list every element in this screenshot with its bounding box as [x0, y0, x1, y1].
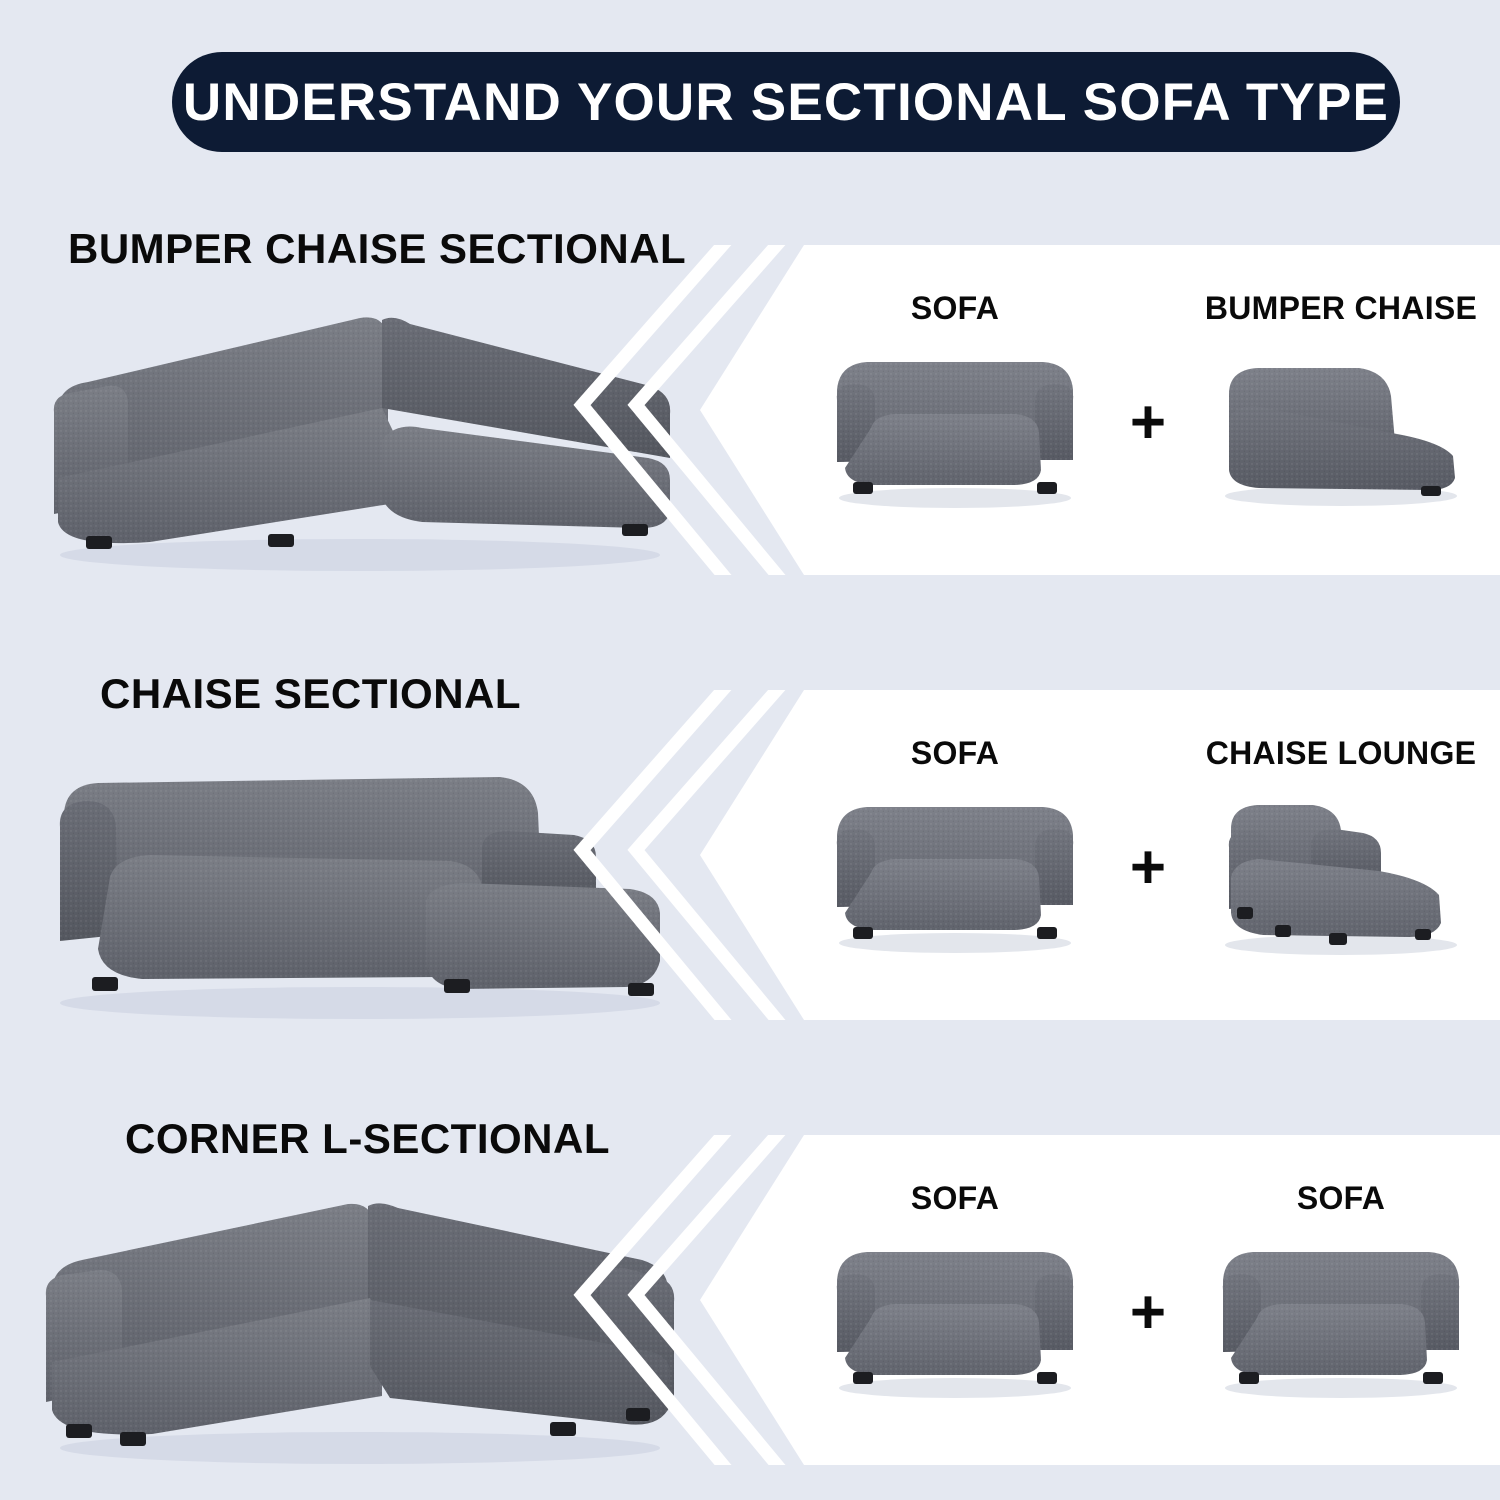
part-label: SOFA — [1201, 1180, 1481, 1217]
part-item: SOFA — [1201, 1150, 1481, 1450]
section-title: CHAISE SECTIONAL — [100, 670, 521, 718]
section-title: BUMPER CHAISE SECTIONAL — [68, 225, 686, 273]
infographic-page: UNDERSTAND YOUR SECTIONAL SOFA TYPE BUMP… — [0, 0, 1500, 1500]
section-corner-l-sectional: CORNER L-SECTIONAL — [0, 1105, 1500, 1500]
part-label: CHAISE LOUNGE — [1201, 735, 1481, 772]
sofa-three-seat-icon — [1201, 1228, 1481, 1413]
part-label: SOFA — [815, 1180, 1095, 1217]
chaise-lounge-piece-icon — [1201, 783, 1481, 968]
part-label: SOFA — [815, 290, 1095, 327]
part-item: SOFA — [815, 260, 1095, 560]
sofa-three-seat-icon — [815, 338, 1095, 523]
part-label: BUMPER CHAISE — [1201, 290, 1481, 327]
bumper-chaise-piece-icon — [1201, 338, 1481, 523]
parts-row: SOFA — [805, 245, 1495, 575]
part-item: BUMPER CHAISE — [1201, 260, 1481, 560]
part-item: CHAISE LOUNGE — [1201, 705, 1481, 1005]
section-title: CORNER L-SECTIONAL — [125, 1115, 610, 1163]
part-item: SOFA — [815, 705, 1095, 1005]
plus-operator: + — [1113, 837, 1183, 899]
parts-row: SOFA — [805, 690, 1495, 1020]
part-label: SOFA — [815, 735, 1095, 772]
part-item: SOFA — [815, 1150, 1095, 1450]
sofa-three-seat-icon — [815, 783, 1095, 968]
title-banner: UNDERSTAND YOUR SECTIONAL SOFA TYPE — [172, 52, 1400, 152]
section-bumper-chaise-sectional: BUMPER CHAISE SECTIONAL — [0, 215, 1500, 635]
plus-operator: + — [1113, 1282, 1183, 1344]
section-chaise-sectional: CHAISE SECTIONAL — [0, 660, 1500, 1080]
parts-row: SOFA — [805, 1135, 1495, 1465]
plus-operator: + — [1113, 392, 1183, 454]
page-title: UNDERSTAND YOUR SECTIONAL SOFA TYPE — [183, 72, 1389, 133]
hero-chaise-sectional-icon — [30, 735, 690, 1035]
sofa-three-seat-icon — [815, 1228, 1095, 1413]
hero-bumper-chaise-sectional-icon — [30, 290, 690, 590]
hero-corner-l-sectional-icon — [30, 1180, 690, 1480]
